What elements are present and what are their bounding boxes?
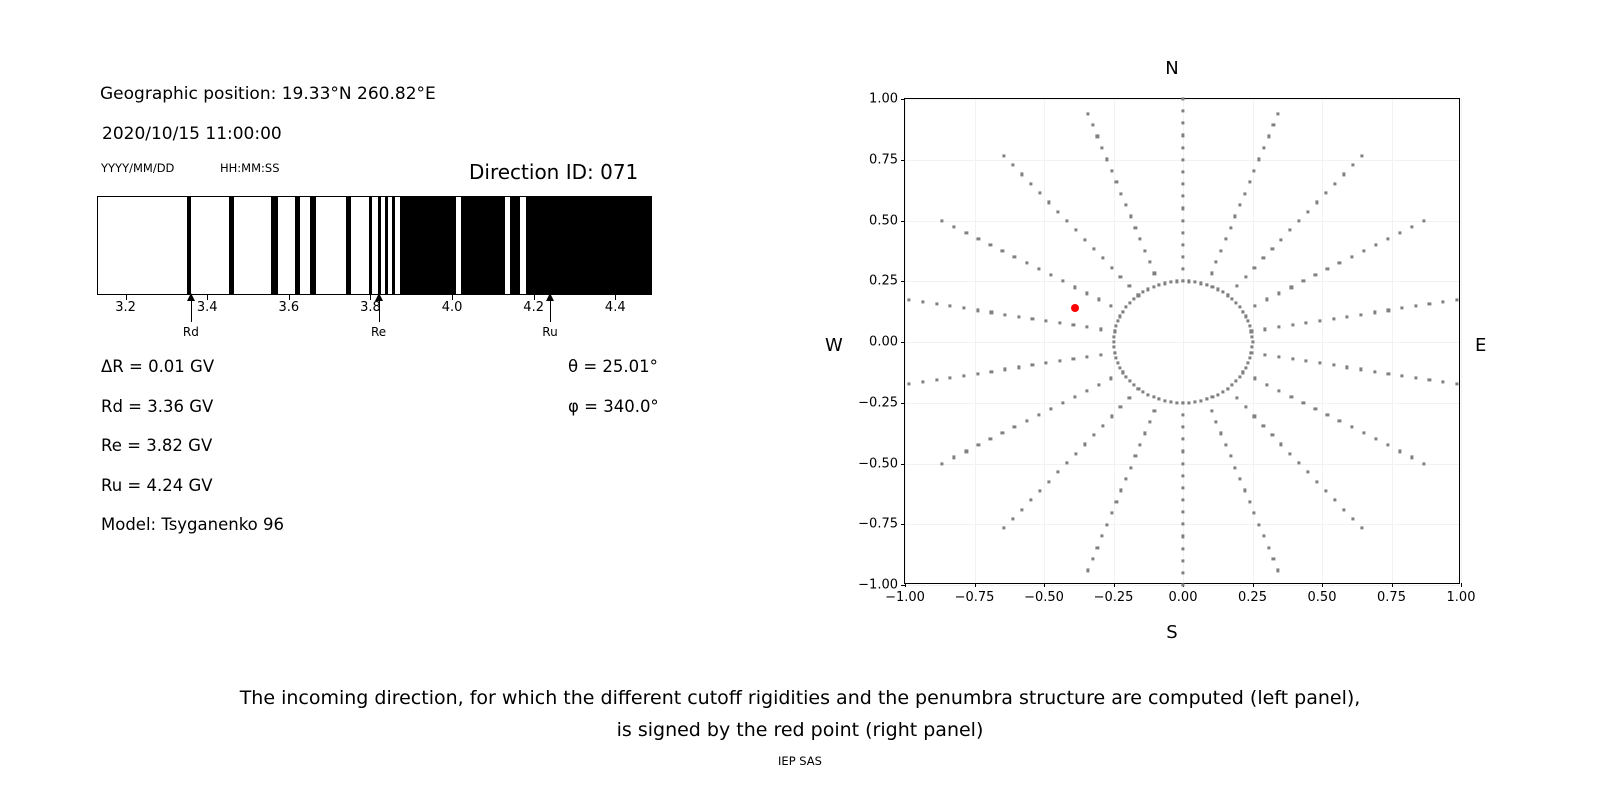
- direction-point: [1235, 285, 1238, 288]
- parameter-line: θ = 25.01°: [568, 357, 658, 376]
- direction-point: [1181, 231, 1184, 234]
- direction-point: [1262, 146, 1265, 149]
- direction-point: [1386, 444, 1389, 447]
- direction-point: [1398, 231, 1401, 234]
- direction-point: [1298, 461, 1301, 464]
- direction-point: [1142, 291, 1145, 294]
- direction-point: [1362, 432, 1365, 435]
- direction-point: [977, 444, 980, 447]
- direction-point: [1324, 489, 1327, 492]
- direction-point: [1324, 191, 1327, 194]
- direction-point: [1193, 400, 1196, 403]
- direction-point: [1226, 294, 1229, 297]
- direction-point: [1302, 280, 1305, 283]
- direction-point: [1085, 292, 1088, 295]
- direction-point: [1373, 370, 1376, 373]
- direction-point: [1219, 249, 1222, 252]
- direction-point: [1243, 192, 1246, 195]
- direction-point: [1253, 266, 1256, 269]
- direction-point: [962, 307, 965, 310]
- direction-point: [1056, 210, 1059, 213]
- geographic-position-text: Geographic position: 19.33°N 260.82°E: [100, 84, 436, 104]
- direction-point: [1037, 413, 1040, 416]
- direction-point: [1086, 326, 1089, 329]
- direction-point: [1112, 335, 1115, 338]
- direction-point: [1058, 321, 1061, 324]
- direction-point: [1153, 409, 1156, 412]
- direction-point: [1318, 362, 1321, 365]
- direction-point: [962, 374, 965, 377]
- direction-point: [1031, 364, 1034, 367]
- direction-point: [1231, 297, 1234, 300]
- direction-point: [1326, 268, 1329, 271]
- direction-point: [1289, 452, 1292, 455]
- direction-point: [1455, 298, 1458, 301]
- direction-point: [1169, 281, 1172, 284]
- direction-point: [1031, 317, 1034, 320]
- direction-point: [1092, 247, 1095, 250]
- direction-point: [1113, 330, 1116, 333]
- direction-point: [1061, 401, 1064, 404]
- direction-point: [1030, 182, 1033, 185]
- direction-point: [1128, 396, 1131, 399]
- direction-point: [1065, 461, 1068, 464]
- direction-point: [1247, 361, 1250, 364]
- direction-point: [1118, 315, 1121, 318]
- direction-point: [1264, 353, 1267, 356]
- direction-point: [990, 311, 993, 314]
- direction-point: [1315, 480, 1318, 483]
- direction-point: [1181, 486, 1184, 489]
- direction-point: [1318, 319, 1321, 322]
- direction-point: [1267, 546, 1270, 549]
- direction-point: [1272, 557, 1275, 560]
- direction-point: [1085, 389, 1088, 392]
- direction-point: [1119, 406, 1122, 409]
- direction-point: [1374, 243, 1377, 246]
- direction-point: [1254, 304, 1257, 307]
- axis-tick-label: 4.0: [442, 300, 463, 315]
- rigidity-marker-label-ru: Ru: [542, 325, 557, 339]
- direction-point: [1181, 462, 1184, 465]
- direction-point: [1181, 547, 1184, 550]
- direction-point: [1235, 396, 1238, 399]
- direction-point: [1211, 395, 1214, 398]
- direction-point: [1210, 409, 1213, 412]
- direction-point: [1249, 325, 1252, 328]
- direction-point: [1338, 419, 1341, 422]
- gridline-vertical: [1322, 99, 1323, 583]
- direction-point: [1110, 415, 1113, 418]
- direction-point: [976, 309, 979, 312]
- direction-point: [1137, 294, 1140, 297]
- direction-point: [1342, 508, 1345, 511]
- direction-point: [1114, 325, 1117, 328]
- direction-point: [1234, 466, 1237, 469]
- direction-point: [1422, 462, 1425, 465]
- direction-point: [1074, 452, 1077, 455]
- direction-point: [1231, 383, 1234, 386]
- gridline-vertical: [1461, 99, 1462, 583]
- direction-point: [1110, 266, 1113, 269]
- direction-point: [1280, 443, 1283, 446]
- parameter-line: Model: Tsyganenko 96: [101, 515, 284, 534]
- direction-point: [1181, 122, 1184, 125]
- direction-point: [1025, 261, 1028, 264]
- rigidity-marker-label-re: Re: [371, 325, 386, 339]
- direction-point: [1096, 135, 1099, 138]
- direction-point: [1350, 255, 1353, 258]
- direction-point: [1037, 268, 1040, 271]
- direction-point: [1058, 359, 1061, 362]
- direction-point: [908, 383, 911, 386]
- compass-label-south: S: [1166, 622, 1177, 643]
- direction-point: [1410, 456, 1413, 459]
- direction-point: [1124, 477, 1127, 480]
- direction-point: [1147, 393, 1150, 396]
- direction-point: [965, 450, 968, 453]
- direction-point: [1115, 500, 1118, 503]
- penumbra-band: [392, 197, 395, 294]
- rigidity-marker-arrow-re: [379, 294, 380, 322]
- compass-label-east: E: [1475, 335, 1486, 356]
- direction-point: [1224, 238, 1227, 241]
- direction-point: [1253, 415, 1256, 418]
- direction-point: [1271, 433, 1274, 436]
- direction-point: [1276, 569, 1279, 572]
- direction-point: [1181, 243, 1184, 246]
- direction-point: [1072, 324, 1075, 327]
- penumbra-band: [378, 197, 381, 294]
- direction-point: [1134, 455, 1137, 458]
- direction-point: [1073, 395, 1076, 398]
- parameter-line: Ru = 4.24 GV: [101, 476, 213, 495]
- x-axis-tick: [1461, 583, 1462, 587]
- direction-point: [1298, 219, 1301, 222]
- direction-point: [1012, 164, 1015, 167]
- direction-point: [1359, 368, 1362, 371]
- direction-point: [1181, 523, 1184, 526]
- direction-point: [1056, 471, 1059, 474]
- axis-tick-label: 4.2: [523, 300, 544, 315]
- direction-point: [1441, 380, 1444, 383]
- direction-point: [1205, 283, 1208, 286]
- direction-point: [1226, 387, 1229, 390]
- direction-point: [1181, 170, 1184, 173]
- direction-point: [1428, 378, 1431, 381]
- x-axis-tick-label: −0.50: [1024, 590, 1064, 605]
- x-axis-tick: [905, 583, 906, 587]
- direction-point: [1235, 301, 1238, 304]
- y-axis-tick: [901, 281, 905, 282]
- direction-point: [1244, 315, 1247, 318]
- y-axis-tick: [901, 99, 905, 100]
- direction-point: [1422, 219, 1425, 222]
- direction-point: [1142, 390, 1145, 393]
- direction-point: [1229, 226, 1232, 229]
- direction-point: [1175, 280, 1178, 283]
- direction-point: [1257, 158, 1260, 161]
- direction-point: [1414, 376, 1417, 379]
- direction-point: [1244, 406, 1247, 409]
- direction-point: [1116, 361, 1119, 364]
- direction-point: [1074, 229, 1077, 232]
- direction-point: [1248, 181, 1251, 184]
- x-axis-tick-label: 0.75: [1377, 590, 1406, 605]
- direction-point: [1332, 364, 1335, 367]
- direction-point: [1253, 512, 1256, 515]
- direction-point: [1314, 407, 1317, 410]
- direction-point: [1332, 317, 1335, 320]
- direction-point: [1101, 534, 1104, 537]
- direction-point: [1124, 375, 1127, 378]
- direction-point: [1280, 238, 1283, 241]
- rigidity-marker-arrow-ru: [550, 294, 551, 322]
- x-axis-tick: [1392, 583, 1393, 587]
- direction-point: [1181, 255, 1184, 258]
- direction-point: [1045, 319, 1048, 322]
- direction-point: [1017, 315, 1020, 318]
- direction-point: [1158, 283, 1161, 286]
- y-axis-tick: [901, 464, 905, 465]
- direction-point: [1148, 420, 1151, 423]
- direction-point: [1152, 395, 1155, 398]
- direction-point: [1181, 195, 1184, 198]
- datetime-text: 2020/10/15 11:00:00: [102, 124, 282, 144]
- caption-line-2: is signed by the red point (right panel): [0, 714, 1600, 746]
- direction-point: [1181, 559, 1184, 562]
- penumbra-band: [385, 197, 388, 294]
- x-axis-tick: [975, 583, 976, 587]
- direction-point: [1387, 309, 1390, 312]
- direction-point: [935, 378, 938, 381]
- x-axis-tick-label: 0.25: [1238, 590, 1267, 605]
- direction-point: [977, 237, 980, 240]
- direction-point: [1333, 182, 1336, 185]
- direction-point: [1105, 158, 1108, 161]
- direction-point: [1181, 268, 1184, 271]
- direction-point: [1147, 288, 1150, 291]
- y-axis-tick: [901, 160, 905, 161]
- direction-point: [1221, 291, 1224, 294]
- direction-point: [1086, 355, 1089, 358]
- direction-point: [1114, 356, 1117, 359]
- direction-point: [1243, 489, 1246, 492]
- direction-point: [1211, 285, 1214, 288]
- parameter-line: ΔR = 0.01 GV: [101, 357, 214, 376]
- direction-point: [1414, 305, 1417, 308]
- direction-point: [1276, 112, 1279, 115]
- direction-point: [1181, 413, 1184, 416]
- direction-point: [1400, 307, 1403, 310]
- penumbra-axis: 3.23.43.63.84.04.24.4RdReRu: [97, 295, 652, 355]
- figure-caption: The incoming direction, for which the di…: [0, 682, 1600, 746]
- direction-point: [1021, 173, 1024, 176]
- direction-point: [1229, 455, 1232, 458]
- direction-point: [1113, 351, 1116, 354]
- direction-point: [1101, 257, 1104, 260]
- direction-point: [1038, 191, 1041, 194]
- y-axis-tick-label: −0.25: [858, 395, 898, 410]
- direction-point: [1238, 477, 1241, 480]
- direction-point: [1181, 110, 1184, 113]
- direction-point: [1049, 274, 1052, 277]
- direction-point: [1254, 377, 1257, 380]
- x-axis-tick-label: −1.00: [885, 590, 925, 605]
- direction-point: [1017, 366, 1020, 369]
- direction-point: [1244, 366, 1247, 369]
- penumbra-band: [187, 197, 191, 294]
- direction-point: [1152, 285, 1155, 288]
- direction-point: [1175, 401, 1178, 404]
- direction-point: [1003, 313, 1006, 316]
- direction-point: [1216, 288, 1219, 291]
- direction-point: [1065, 219, 1068, 222]
- direction-point: [941, 219, 944, 222]
- direction-point: [1101, 146, 1104, 149]
- direction-point: [1224, 443, 1227, 446]
- time-format-hint: HH:MM:SS: [220, 161, 280, 175]
- direction-point: [1306, 210, 1309, 213]
- y-axis-tick-label: 0.00: [869, 335, 898, 350]
- direction-point: [1249, 356, 1252, 359]
- direction-point: [1030, 499, 1033, 502]
- direction-point: [1428, 302, 1431, 305]
- axis-tick-label: 3.6: [278, 300, 299, 315]
- direction-point: [1247, 320, 1250, 323]
- direction-point: [949, 376, 952, 379]
- direction-point: [1181, 146, 1184, 149]
- direction-point: [935, 302, 938, 305]
- direction-point: [1253, 169, 1256, 172]
- left-panel: Geographic position: 19.33°N 260.82°E 20…: [0, 0, 800, 660]
- direction-point: [1262, 534, 1265, 537]
- direction-point: [1441, 300, 1444, 303]
- direction-point: [1013, 425, 1016, 428]
- direction-point: [1049, 407, 1052, 410]
- selected-direction-point: [1071, 304, 1079, 312]
- direction-point: [1181, 182, 1184, 185]
- direction-point: [1215, 260, 1218, 263]
- direction-point: [1290, 395, 1293, 398]
- direction-point: [1120, 192, 1123, 195]
- direction-point: [1360, 527, 1363, 530]
- direction-point: [921, 300, 924, 303]
- right-panel: N S W E −1.00−0.75−0.50−0.250.000.250.50…: [800, 0, 1600, 660]
- penumbra-band: [461, 197, 505, 294]
- direction-point: [1083, 443, 1086, 446]
- direction-point: [989, 438, 992, 441]
- penumbra-band: [295, 197, 300, 294]
- direction-point: [1181, 207, 1184, 210]
- direction-point: [1387, 372, 1390, 375]
- direction-point: [1012, 517, 1015, 520]
- direction-point: [1374, 438, 1377, 441]
- direction-point: [1210, 272, 1213, 275]
- x-axis-tick-label: 0.50: [1308, 590, 1337, 605]
- direction-point: [953, 225, 956, 228]
- direction-point: [1291, 324, 1294, 327]
- direction-point: [1359, 313, 1362, 316]
- direction-point: [1115, 181, 1118, 184]
- y-axis-tick-label: 0.25: [869, 274, 898, 289]
- direction-point: [1021, 508, 1024, 511]
- direction-point: [1124, 203, 1127, 206]
- y-axis-tick-label: 0.50: [869, 213, 898, 228]
- direction-point: [1086, 112, 1089, 115]
- direction-point: [1061, 280, 1064, 283]
- direction-point: [1047, 201, 1050, 204]
- direction-point: [1181, 219, 1184, 222]
- parameter-line: φ = 340.0°: [568, 397, 659, 416]
- direction-point: [1181, 571, 1184, 574]
- direction-point: [1251, 346, 1254, 349]
- direction-point: [1181, 583, 1184, 586]
- direction-point: [1373, 311, 1376, 314]
- direction-point: [1181, 134, 1184, 137]
- direction-point: [1025, 419, 1028, 422]
- direction-point: [1351, 164, 1354, 167]
- direction-point: [1118, 366, 1121, 369]
- direction-point: [1121, 310, 1124, 313]
- direction-point: [1163, 282, 1166, 285]
- direction-point: [1360, 154, 1363, 157]
- direction-point: [965, 231, 968, 234]
- direction-point: [1238, 375, 1241, 378]
- penumbra-bar-chart: [97, 196, 652, 295]
- direction-point: [1132, 383, 1135, 386]
- direction-point: [1143, 432, 1146, 435]
- direction-point: [1306, 471, 1309, 474]
- direction-point: [1109, 304, 1112, 307]
- direction-point: [1128, 285, 1131, 288]
- y-axis-tick: [901, 403, 905, 404]
- direction-point: [1350, 425, 1353, 428]
- y-axis-tick-label: −0.75: [858, 517, 898, 532]
- direction-point: [1139, 443, 1142, 446]
- direction-point: [1148, 260, 1151, 263]
- direction-point: [1181, 425, 1184, 428]
- x-axis-tick-label: 1.00: [1447, 590, 1476, 605]
- direction-point: [1099, 353, 1102, 356]
- direction-point: [1326, 413, 1329, 416]
- direction-point: [1278, 389, 1281, 392]
- direction-point: [1112, 346, 1115, 349]
- direction-point: [1242, 310, 1245, 313]
- x-axis-tick-label: −0.75: [955, 590, 995, 605]
- rigidity-marker-arrow-rd: [191, 294, 192, 322]
- sky-map-plot-area: −1.00−0.75−0.50−0.250.000.250.500.751.00…: [904, 98, 1460, 584]
- direction-point: [1244, 275, 1247, 278]
- direction-point: [1291, 357, 1294, 360]
- direction-point: [1250, 351, 1253, 354]
- direction-point: [1013, 255, 1016, 258]
- direction-point: [1262, 257, 1265, 260]
- direction-point: [1128, 301, 1131, 304]
- axis-tick-label: 4.4: [605, 300, 626, 315]
- direction-point: [1205, 397, 1208, 400]
- direction-point: [1110, 512, 1113, 515]
- gridline-vertical: [1044, 99, 1045, 583]
- direction-point: [1338, 261, 1341, 264]
- direction-point: [1346, 366, 1349, 369]
- direction-point: [1119, 275, 1122, 278]
- direction-point: [1181, 158, 1184, 161]
- penumbra-band: [400, 197, 456, 294]
- direction-point: [1221, 390, 1224, 393]
- direction-point: [1169, 400, 1172, 403]
- rigidity-marker-label-rd: Rd: [183, 325, 199, 339]
